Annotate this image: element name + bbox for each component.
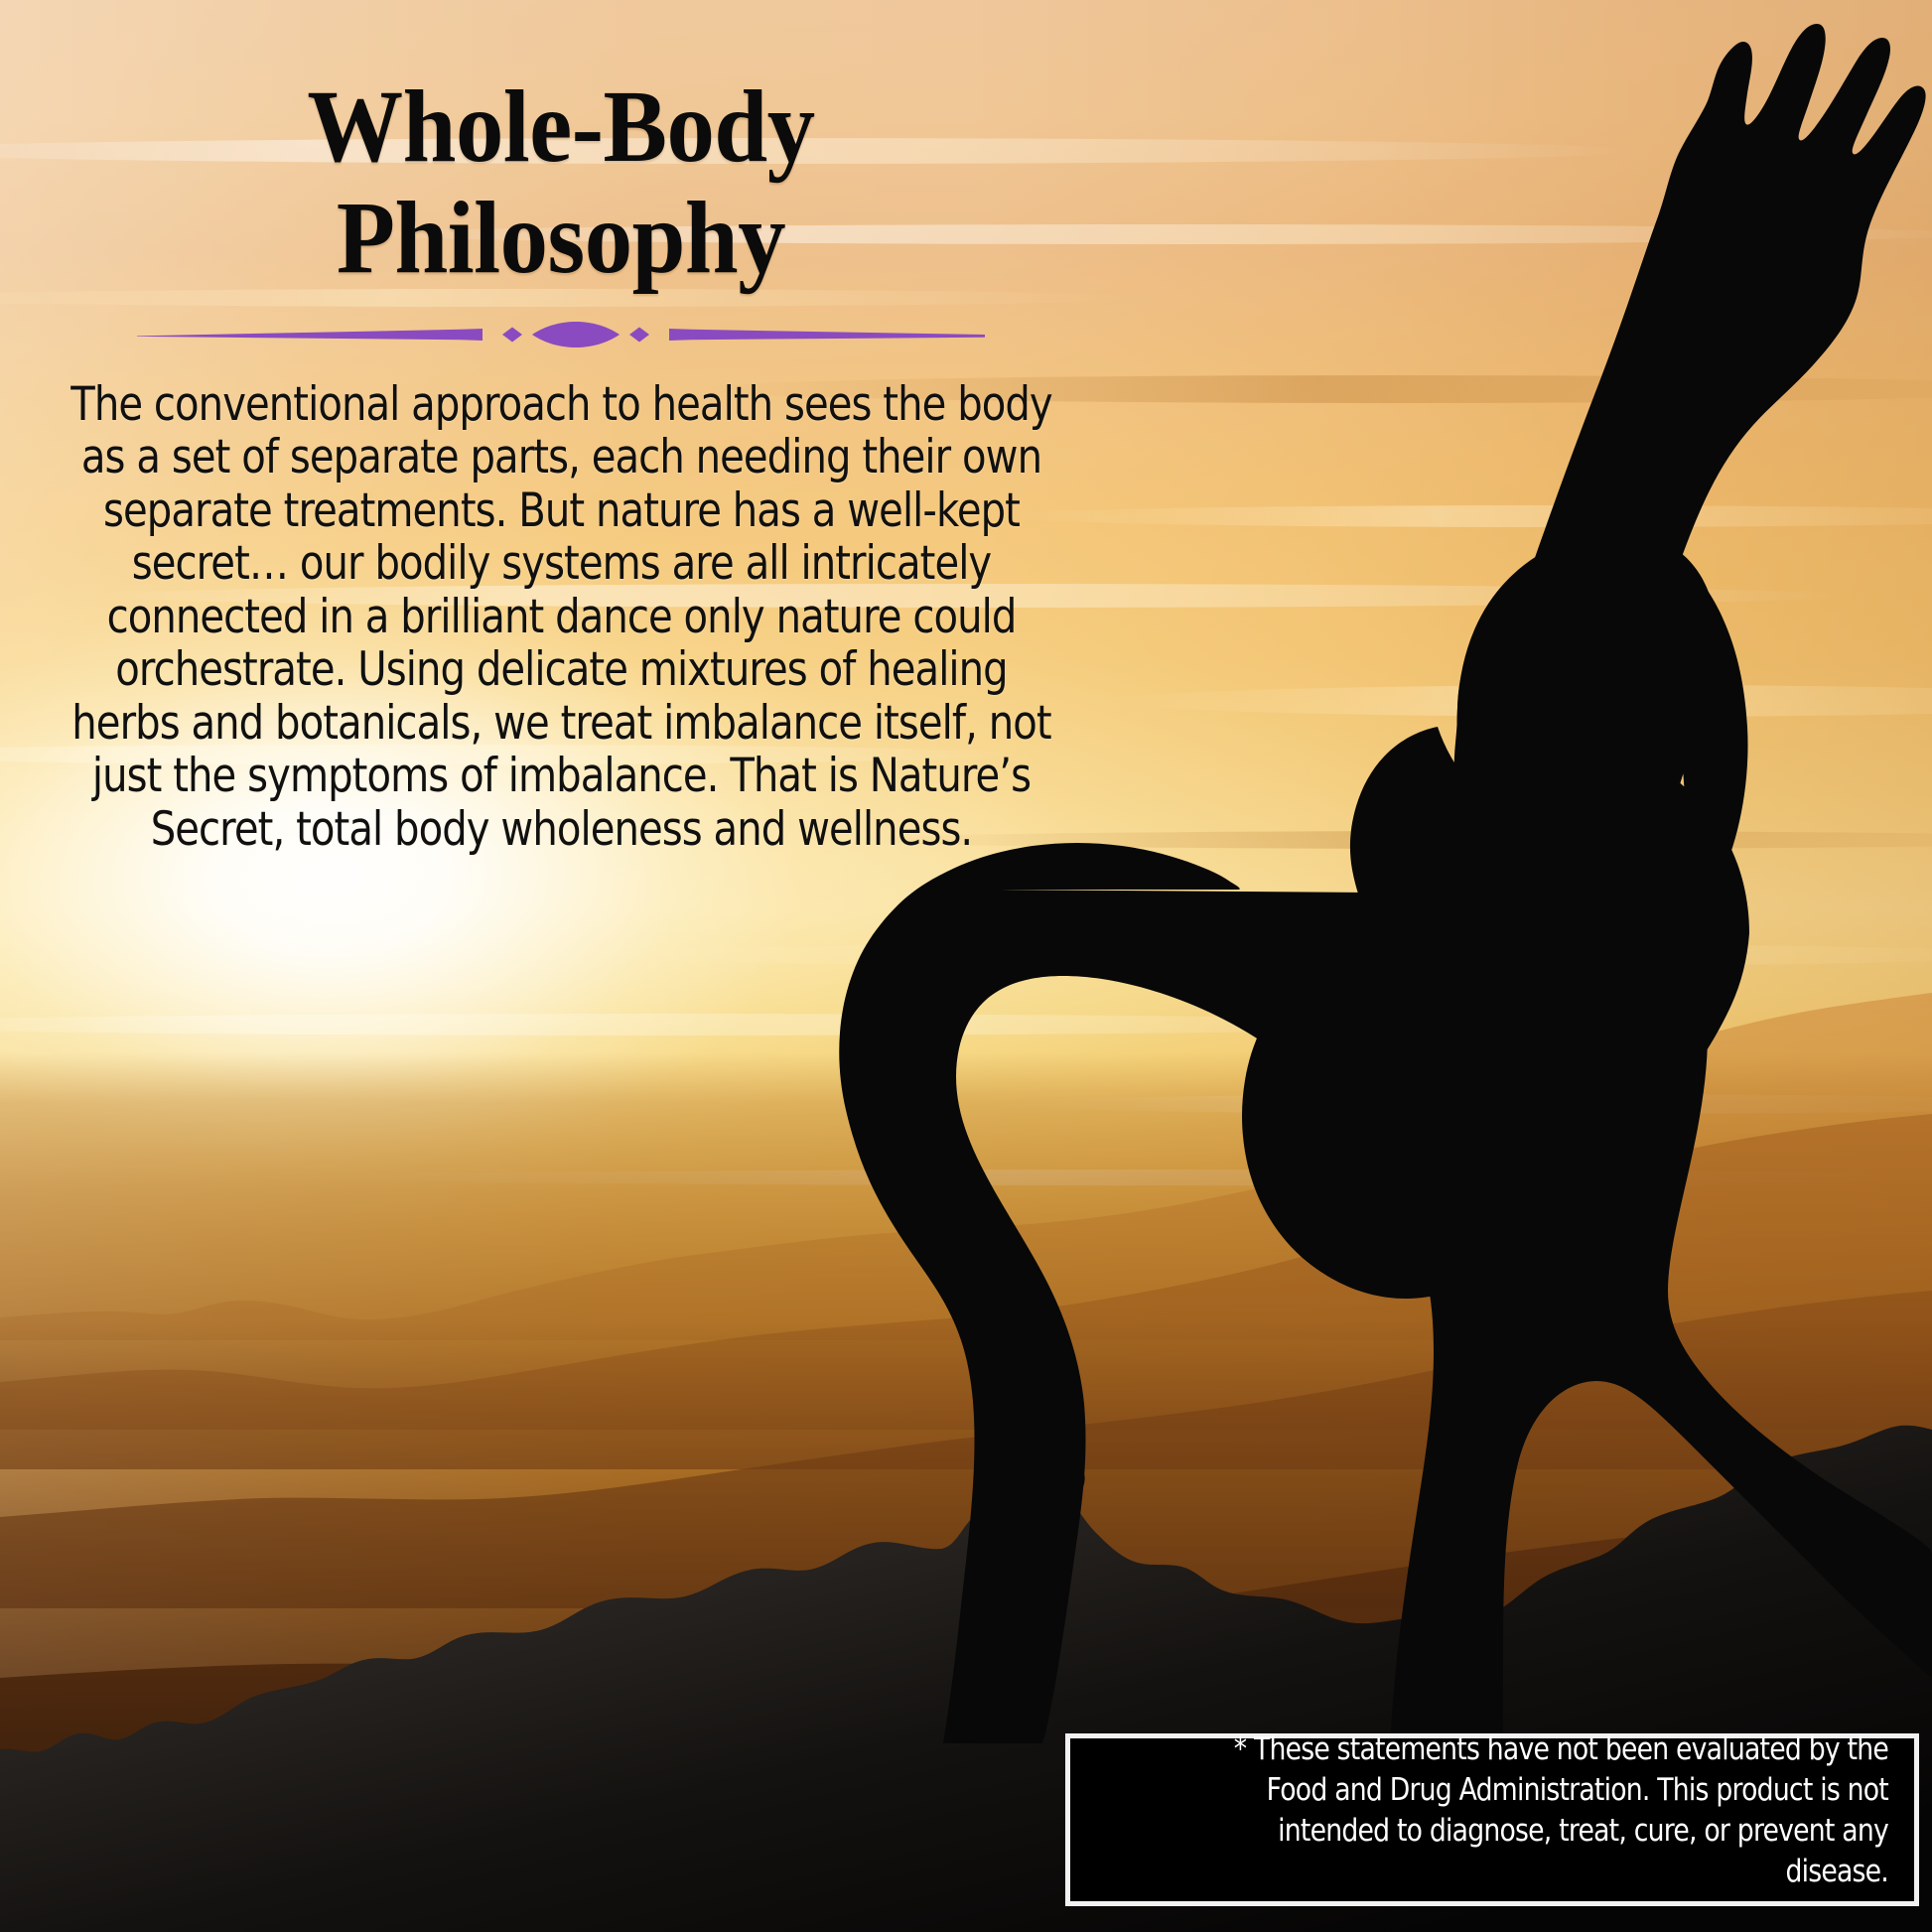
disclaimer-text: * These statements have not been evaluat… <box>1207 1729 1888 1892</box>
disclaimer-box: * These statements have not been evaluat… <box>1065 1733 1919 1906</box>
page-title: Whole-Body Philosophy <box>94 71 1027 295</box>
text-panel: Whole-Body Philosophy The conventional a… <box>60 71 1062 856</box>
body-paragraph: The conventional approach to health sees… <box>61 378 1063 857</box>
promo-card: Whole-Body Philosophy The conventional a… <box>0 0 1932 1932</box>
ornamental-divider-icon <box>133 313 989 356</box>
